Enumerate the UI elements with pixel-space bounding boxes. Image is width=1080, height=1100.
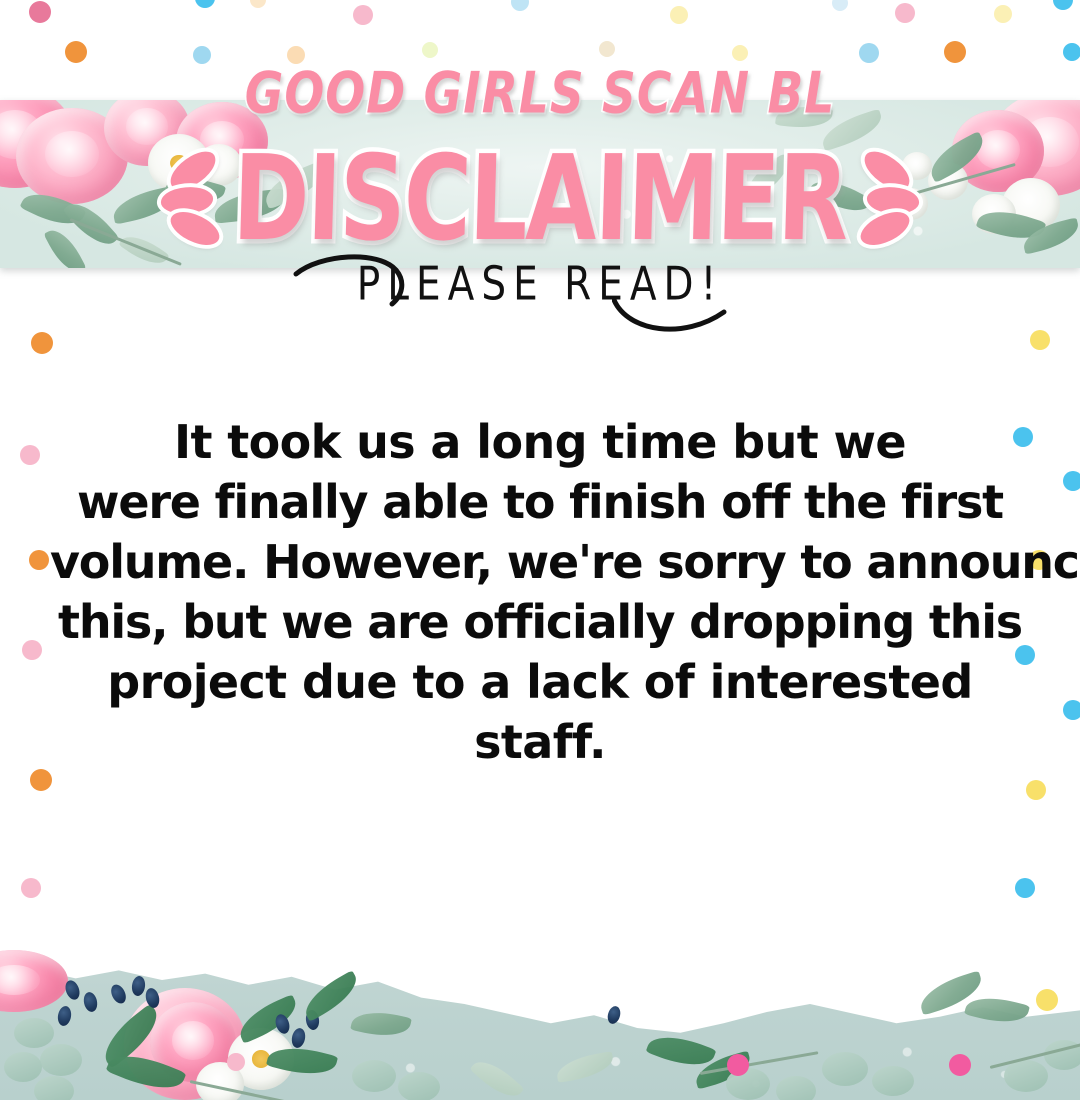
petal-icon [161,186,214,215]
disclaimer-title-row: DISCLAIMER [0,128,1080,268]
confetti-dot [1063,471,1080,491]
confetti-dot [1030,330,1050,350]
eucalyptus-leaf-icon [14,1018,54,1048]
confetti-dot [1026,780,1046,800]
subtitle-please-read: PLEASE READ! [0,258,1080,311]
eucalyptus-leaf-icon [822,1052,868,1086]
eucalyptus-leaf-icon [4,1052,42,1082]
eucalyptus-leaf-icon [352,1060,396,1092]
petal-icon [866,186,919,215]
confetti-dot [1063,700,1080,720]
eucalyptus-leaf-icon [398,1072,440,1100]
body-line: It took us a long time but we [50,412,1030,472]
disclaimer-body-text: It took us a long time but wewere finall… [50,412,1030,772]
body-line: volume. However, we're sorry to announce [50,532,1030,592]
confetti-dot [353,5,373,25]
petal-flourish-icon [847,143,921,253]
body-line: staff. [50,712,1030,772]
eucalyptus-leaf-icon [776,1076,816,1100]
eucalyptus-leaf-icon [726,1068,770,1100]
confetti-dot [195,0,215,8]
confetti-dot [599,41,615,57]
eucalyptus-leaf-icon [34,1076,74,1100]
confetti-dot [31,332,53,354]
confetti-dot [250,0,266,8]
petal-flourish-icon [159,143,233,253]
confetti-dot [994,5,1012,23]
eucalyptus-leaf-icon [1004,1060,1048,1092]
confetti-dot [29,1,51,23]
confetti-dot [21,878,41,898]
confetti-dot [30,769,52,791]
white-flower-icon [196,1062,244,1100]
footer-torn-paper [0,940,1080,1100]
disclaimer-page: GOOD GIRLS SCAN BL DISCLAIMER PLEASE REA… [0,0,1080,1100]
confetti-dot [1063,43,1080,61]
page-title: DISCLAIMER [231,130,848,267]
body-line: this, but we are officially dropping thi… [50,592,1030,652]
confetti-dot [895,3,915,23]
confetti-dot [1015,878,1035,898]
swoosh-icon [292,252,472,312]
confetti-dot [511,0,529,11]
confetti-dot [422,42,438,58]
brand-title: GOOD GIRLS SCAN BL [0,60,1080,127]
confetti-dot [732,45,748,61]
berry-icon [606,1005,622,1026]
body-line: were finally able to finish off the firs… [50,472,1030,532]
body-line: project due to a lack of interested [50,652,1030,712]
confetti-dot [22,640,42,660]
confetti-dot [20,445,40,465]
confetti-dot [29,550,49,570]
confetti-dot [670,6,688,24]
eucalyptus-leaf-icon [40,1044,82,1076]
eucalyptus-leaf-icon [872,1066,914,1096]
confetti-dot [1053,0,1073,10]
confetti-dot [832,0,848,11]
swoosh-underline-icon [612,296,792,356]
